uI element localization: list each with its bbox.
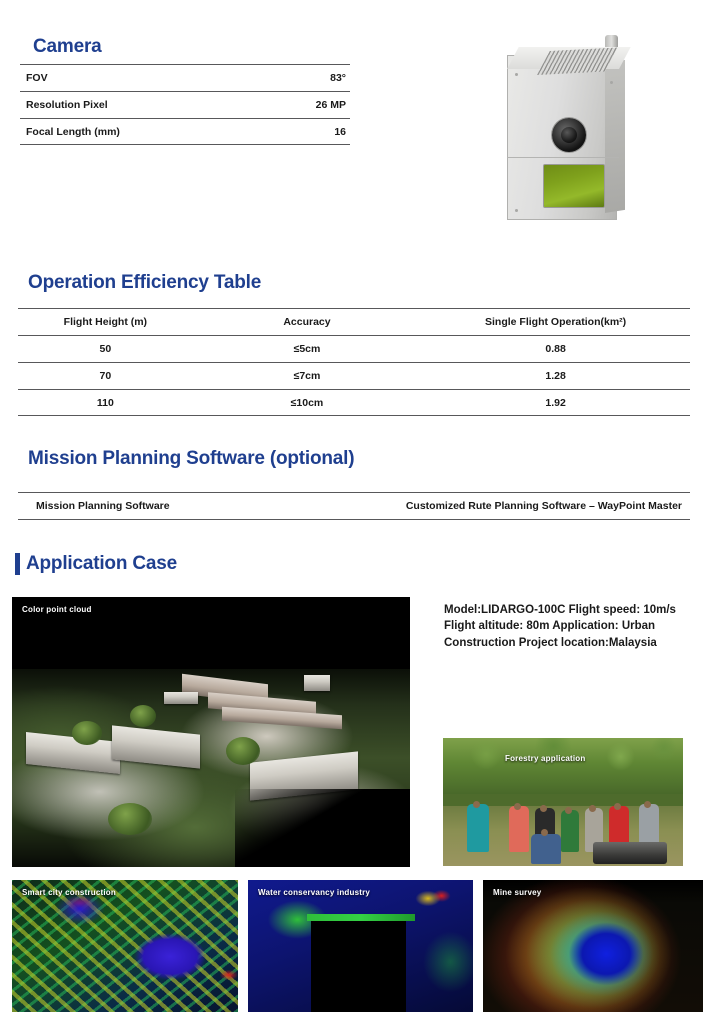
color-point-cloud-image: Color point cloud (12, 597, 410, 867)
camera-spec-table: FOV 83° Resolution Pixel 26 MP Focal Len… (20, 64, 350, 145)
building (164, 692, 198, 704)
image-caption: Smart city construction (22, 888, 116, 897)
camera-heading: Camera (33, 36, 102, 58)
image-caption: Water conservancy industry (258, 888, 370, 897)
table-header-row: Flight Height (m) Accuracy Single Flight… (18, 308, 690, 335)
drone-equipment (593, 842, 667, 864)
water-body (235, 789, 410, 867)
device-seam (507, 157, 619, 158)
cell-flight-height: 70 (18, 370, 193, 382)
dark-reservoir-area (311, 920, 406, 1012)
application-case-caption: Model:LIDARGO-100C Flight speed: 10m/s F… (444, 602, 696, 651)
column-header-accuracy: Accuracy (193, 316, 421, 328)
table-row: Resolution Pixel 26 MP (20, 91, 350, 118)
screw (515, 73, 518, 76)
application-case-heading: Application Case (26, 553, 177, 575)
point-cloud-render (12, 880, 238, 1012)
building (304, 675, 330, 691)
camera-row-value: 26 MP (108, 99, 346, 111)
camera-lens (552, 118, 586, 152)
lidar-camera-unit-image (495, 33, 645, 228)
column-header-flight-height: Flight Height (m) (18, 316, 193, 328)
screw (515, 209, 518, 212)
water-conservancy-industry-image: Water conservancy industry (248, 880, 473, 1012)
lens-aperture (561, 127, 577, 143)
tree-canopy-layer (443, 738, 683, 800)
person-head (473, 801, 480, 808)
device-side-panel (605, 60, 625, 213)
camera-row-label: Resolution Pixel (26, 99, 108, 111)
heading-accent-bar (15, 553, 20, 575)
cell-single-flight-operation: 1.28 (421, 370, 690, 382)
mine-survey-image: Mine survey (483, 880, 703, 1012)
person (467, 804, 489, 852)
mission-planning-label: Mission Planning Software (18, 500, 354, 512)
operation-efficiency-table: Flight Height (m) Accuracy Single Flight… (18, 308, 690, 416)
image-caption: Forestry application (505, 754, 585, 763)
image-caption: Mine survey (493, 888, 541, 897)
dam-structure (307, 914, 415, 921)
table-row: Mission Planning Software Customized Rut… (18, 492, 690, 520)
tree-canopy (130, 705, 156, 727)
camera-row-value: 83° (48, 72, 346, 84)
table-row: 110 ≤10cm 1.92 (18, 389, 690, 416)
person-head (589, 805, 596, 812)
tree-canopy (226, 737, 260, 765)
person-head (565, 807, 572, 814)
person-head (541, 829, 548, 836)
table-row: FOV 83° (20, 64, 350, 91)
cell-flight-height: 50 (18, 343, 193, 355)
smart-city-construction-image: Smart city construction (12, 880, 238, 1012)
table-row: 50 ≤5cm 0.88 (18, 335, 690, 362)
person-head (644, 801, 651, 808)
datasheet-page: Camera FOV 83° Resolution Pixel 26 MP Fo… (0, 0, 705, 1030)
person-crouching (531, 834, 561, 864)
cell-accuracy: ≤7cm (193, 370, 421, 382)
person-head (514, 803, 521, 810)
tree-canopy (108, 803, 152, 835)
elevation-contour-render (483, 880, 703, 1012)
cell-flight-height: 110 (18, 397, 193, 409)
forestry-application-image: Forestry application (443, 738, 683, 866)
tree-canopy (72, 721, 102, 745)
mission-planning-value: Customized Rute Planning Software – WayP… (354, 500, 690, 512)
table-row: Focal Length (mm) 16 (20, 118, 350, 145)
camera-row-label: FOV (26, 72, 48, 84)
cell-accuracy: ≤10cm (193, 397, 421, 409)
mission-planning-table: Mission Planning Software Customized Rut… (18, 492, 690, 520)
screw (610, 81, 613, 84)
person (509, 806, 529, 852)
cell-single-flight-operation: 0.88 (421, 343, 690, 355)
person-head (540, 805, 547, 812)
cell-single-flight-operation: 1.92 (421, 397, 690, 409)
table-row: 70 ≤7cm 1.28 (18, 362, 690, 389)
mission-planning-heading: Mission Planning Software (optional) (28, 448, 354, 470)
column-header-single-flight-operation: Single Flight Operation(km²) (421, 316, 690, 328)
person-head (614, 803, 621, 810)
cell-accuracy: ≤5cm (193, 343, 421, 355)
person (561, 810, 579, 852)
camera-row-label: Focal Length (mm) (26, 126, 120, 138)
camera-row-value: 16 (120, 126, 346, 138)
laser-window (543, 164, 605, 208)
image-caption: Color point cloud (22, 605, 92, 614)
operation-efficiency-heading: Operation Efficiency Table (28, 272, 261, 294)
